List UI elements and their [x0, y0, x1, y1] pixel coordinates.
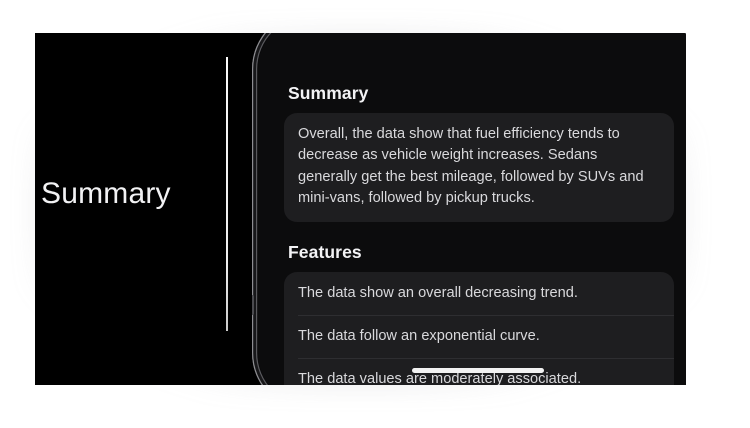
presentation-panel: Summary Summary Overall, the data show t… — [35, 33, 686, 385]
summary-body-text: Overall, the data show that fuel efficie… — [298, 124, 660, 210]
slide-title: Summary — [41, 177, 171, 211]
screen-content: Summary Overall, the data show that fuel… — [258, 33, 686, 385]
phone-side-button[interactable] — [252, 295, 254, 315]
summary-card: Overall, the data show that fuel efficie… — [284, 113, 674, 222]
phone-mockup: Summary Overall, the data show that fuel… — [252, 33, 686, 385]
features-section-heading: Features — [288, 242, 674, 263]
vertical-divider-rule — [226, 57, 228, 331]
home-indicator[interactable] — [412, 368, 544, 373]
list-item[interactable]: The data follow an exponential curve. — [284, 315, 674, 358]
phone-frame: Summary Overall, the data show that fuel… — [252, 33, 686, 385]
list-item[interactable]: The data show an overall decreasing tren… — [284, 272, 674, 315]
phone-screen[interactable]: Summary Overall, the data show that fuel… — [258, 33, 686, 385]
summary-section-heading: Summary — [288, 83, 674, 104]
screenshot-stage: Summary Summary Overall, the data show t… — [0, 0, 750, 428]
